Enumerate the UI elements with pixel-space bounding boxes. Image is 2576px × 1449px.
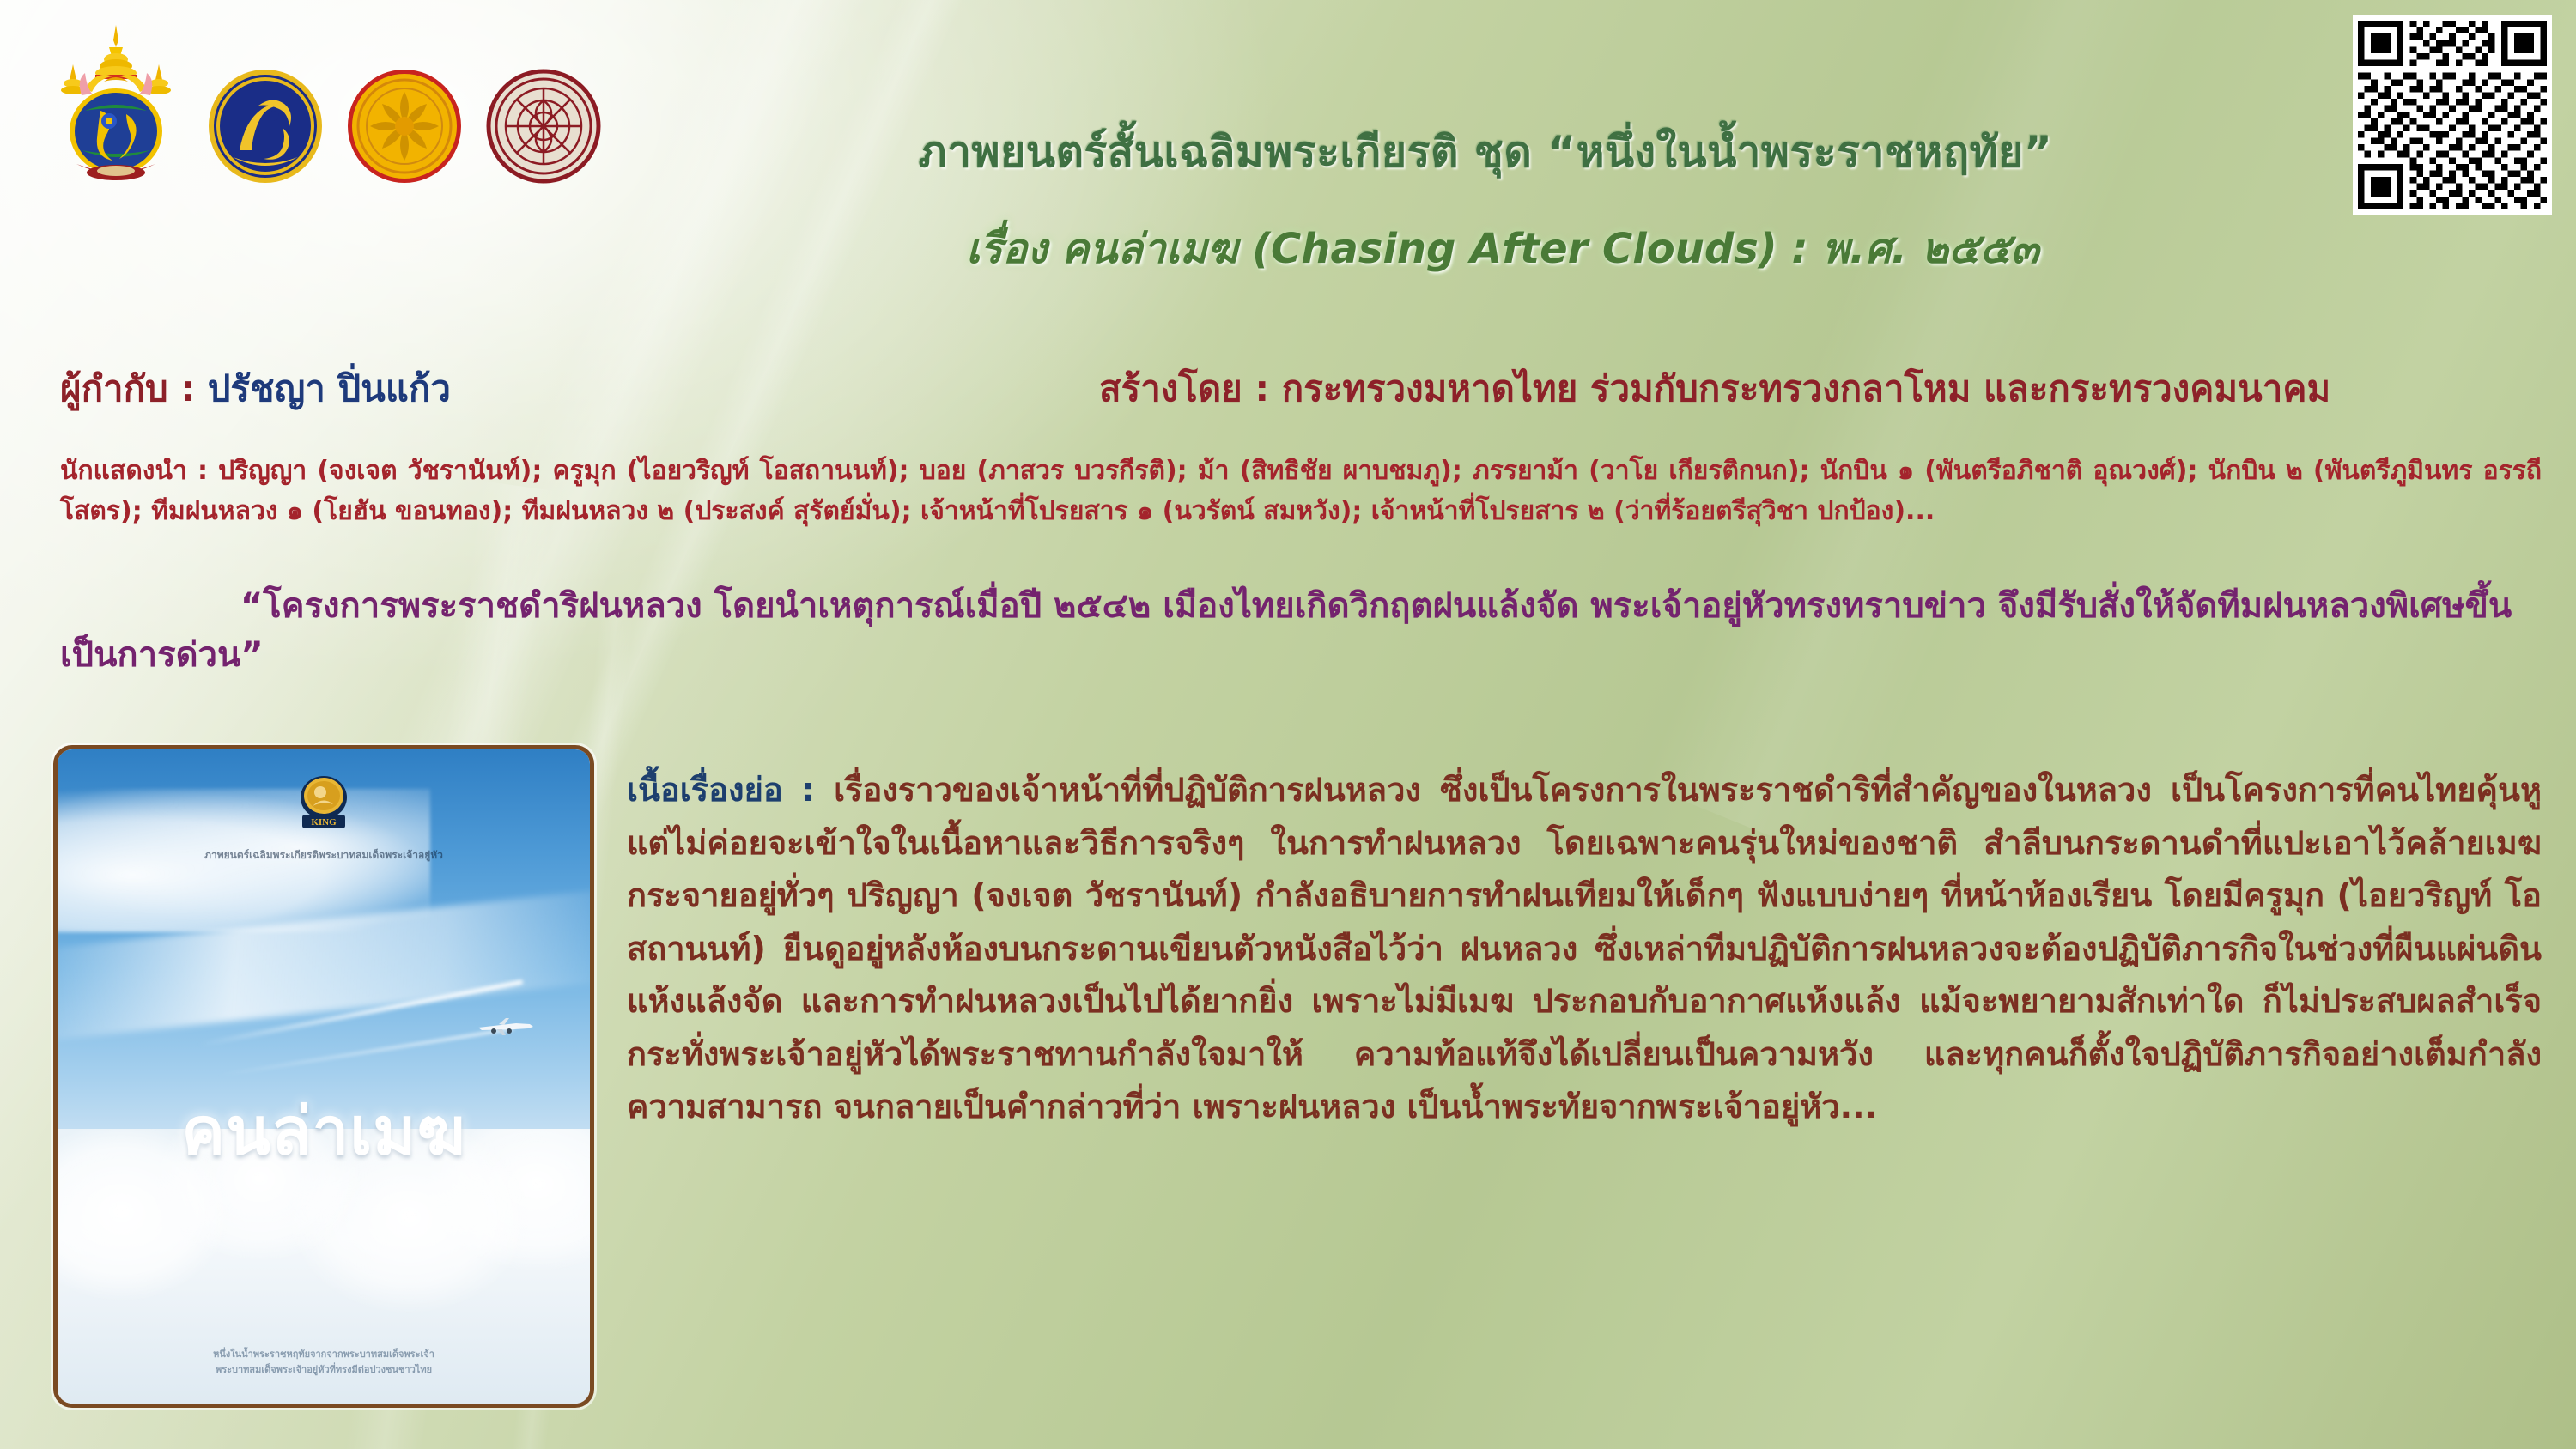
poster-artwork: KING ภาพยนตร์เฉลิมพระเกียรติพระบาทสมเด็จ… [58, 749, 590, 1404]
ministry-of-transport-emblem [485, 68, 602, 188]
synopsis-body: เรื่องราวของเจ้าหน้าที่ที่ปฏิบัติการฝนหล… [627, 771, 2542, 1125]
synopsis-label: เนื้อเรื่องย่อ : [627, 771, 834, 809]
royal-quote: “โครงการพระราชดำริฝนหลวง โดยนำเหตุการณ์เ… [60, 582, 2550, 680]
ministry-of-defence-emblem [346, 68, 463, 188]
poster-page: ภาพยนตร์สั้นเฉลิมพระเกียรติ ชุด “หนึ่งใน… [0, 0, 2576, 1449]
svg-text:KING: KING [311, 817, 337, 828]
ministry-of-interior-emblem [207, 68, 324, 188]
director-label: ผู้กำกับ : [60, 367, 208, 409]
poster-bottom-caption: หนึ่งในน้ำพระราชหฤทัยจากจากพระบาทสมเด็จพ… [58, 1347, 590, 1377]
poster-title: คนล่าเมฆ [58, 1080, 590, 1183]
director-line: ผู้กำกับ : ปรัชญา ปิ่นแก้ว [60, 367, 451, 410]
airplane-icon [477, 1017, 537, 1036]
poster-bottom-line-2: พระบาทสมเด็จพระเจ้าอยู่หัวที่ทรงมีต่อปวง… [58, 1362, 590, 1378]
synopsis-block: เนื้อเรื่องย่อ : เรื่องราวของเจ้าหน้าที่… [627, 764, 2542, 1134]
emblem-row [47, 21, 602, 188]
cast-list: นักแสดงนำ : ปริญญา (จงเจต วัชรานันท์); ค… [60, 451, 2542, 532]
qr-code[interactable] [2353, 15, 2552, 215]
poster-bottom-line-1: หนึ่งในน้ำพระราชหฤทัยจากจากพระบาทสมเด็จพ… [58, 1347, 590, 1362]
director-name: ปรัชญา ปิ่นแก้ว [208, 367, 451, 409]
king-logo-icon: KING [294, 772, 354, 837]
page-subtitle: เรื่อง คนล่าเมฆ (Chasing After Clouds) :… [756, 225, 2250, 275]
producer-line: สร้างโดย : กระทรวงมหาดไทย ร่วมกับกระทรวง… [1099, 367, 2330, 410]
page-title: ภาพยนตร์สั้นเฉลิมพระเกียรติ ชุด “หนึ่งใน… [756, 127, 2215, 178]
royal-garuda-emblem [47, 21, 185, 188]
movie-poster[interactable]: KING ภาพยนตร์เฉลิมพระเกียรติพระบาทสมเด็จ… [53, 745, 594, 1408]
poster-top-caption: ภาพยนตร์เฉลิมพระเกียรติพระบาทสมเด็จพระเจ… [58, 847, 590, 864]
